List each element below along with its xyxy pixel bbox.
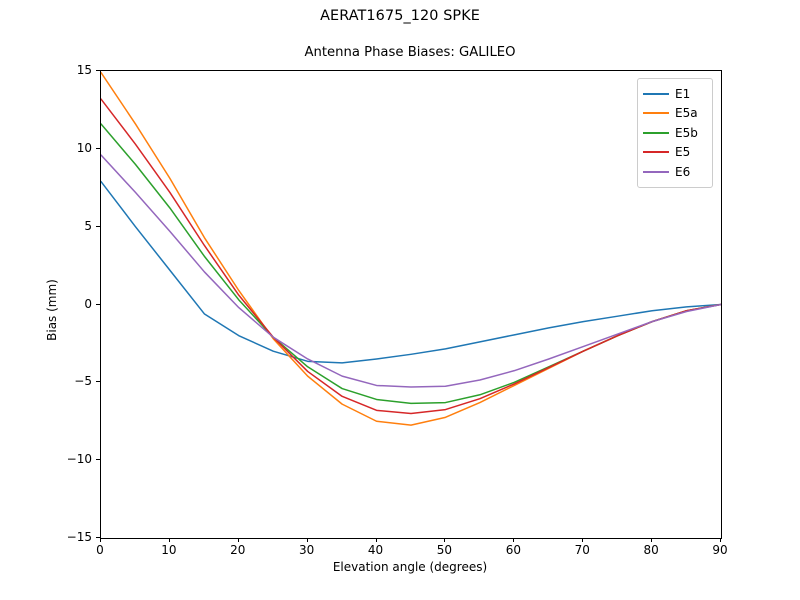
legend-item-e5a: E5a <box>643 104 707 124</box>
legend-color-swatch <box>643 171 669 173</box>
x-tick-label: 20 <box>208 543 268 557</box>
legend-label: E5a <box>675 107 698 119</box>
y-tick-label: 5 <box>32 219 92 233</box>
y-tick-label: −10 <box>32 452 92 466</box>
x-tick-label: 50 <box>414 543 474 557</box>
x-tick-label: 70 <box>552 543 612 557</box>
x-tick-label: 10 <box>139 543 199 557</box>
figure-suptitle: AERAT1675_120 SPKE <box>0 8 800 24</box>
x-tick-mark <box>169 538 170 542</box>
y-tick-mark <box>96 304 100 305</box>
legend-item-e5b: E5b <box>643 123 707 143</box>
legend-item-e5: E5 <box>643 143 707 163</box>
x-tick-mark <box>307 538 308 542</box>
legend-color-swatch <box>643 151 669 153</box>
y-tick-label: 15 <box>32 63 92 77</box>
x-tick-mark <box>238 538 239 542</box>
y-tick-label: −15 <box>32 530 92 544</box>
y-tick-mark <box>96 226 100 227</box>
x-tick-label: 40 <box>346 543 406 557</box>
plot-area <box>100 70 722 539</box>
legend-label: E5 <box>675 146 690 158</box>
series-lines-group <box>101 71 721 538</box>
y-tick-label: 10 <box>32 141 92 155</box>
series-line-e5a <box>101 73 721 426</box>
y-tick-label: −5 <box>32 374 92 388</box>
legend-item-e1: E1 <box>643 84 707 104</box>
y-tick-label: 0 <box>32 297 92 311</box>
legend-color-swatch <box>643 93 669 95</box>
axes-title: Antenna Phase Biases: GALILEO <box>100 45 720 60</box>
y-axis-label: Bias (mm) <box>45 250 59 370</box>
legend-label: E5b <box>675 127 698 139</box>
x-tick-label: 0 <box>70 543 130 557</box>
y-tick-mark <box>96 70 100 71</box>
x-tick-label: 80 <box>621 543 681 557</box>
y-tick-mark <box>96 537 100 538</box>
x-tick-label: 60 <box>483 543 543 557</box>
series-line-e1 <box>101 182 721 363</box>
legend-box: E1E5aE5bE5E6 <box>637 78 713 188</box>
legend-label: E6 <box>675 166 690 178</box>
x-tick-label: 30 <box>277 543 337 557</box>
y-tick-mark <box>96 381 100 382</box>
y-tick-mark <box>96 148 100 149</box>
series-line-e6 <box>101 155 721 387</box>
x-axis-label: Elevation angle (degrees) <box>100 560 720 574</box>
legend-color-swatch <box>643 112 669 114</box>
figure-canvas: AERAT1675_120 SPKE Antenna Phase Biases:… <box>0 0 800 600</box>
legend-color-swatch <box>643 132 669 134</box>
x-tick-mark <box>582 538 583 542</box>
series-line-e5 <box>101 99 721 413</box>
series-line-e5b <box>101 124 721 403</box>
x-tick-mark <box>720 538 721 542</box>
x-tick-label: 90 <box>690 543 750 557</box>
x-tick-mark <box>444 538 445 542</box>
x-tick-mark <box>100 538 101 542</box>
legend-label: E1 <box>675 88 690 100</box>
x-tick-mark <box>376 538 377 542</box>
legend-item-e6: E6 <box>643 162 707 182</box>
y-tick-mark <box>96 459 100 460</box>
x-tick-mark <box>513 538 514 542</box>
x-tick-mark <box>651 538 652 542</box>
